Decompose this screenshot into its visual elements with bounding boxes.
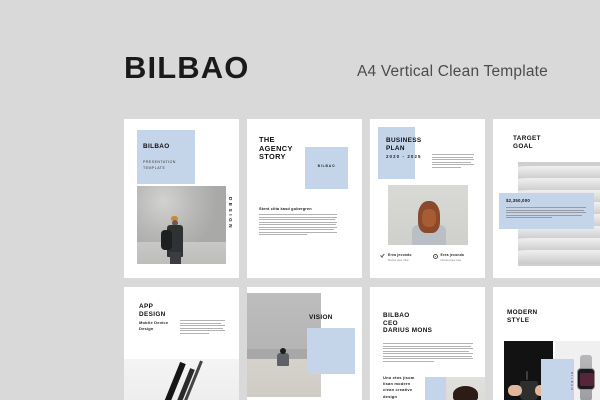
- smartwatch-photo: [577, 355, 595, 400]
- check-icon: [380, 254, 385, 259]
- slide-subtitle: PRESENTATION TEMPLATE: [143, 160, 176, 171]
- slide-card-business-plan[interactable]: BUSINESS PLAN 2020 - 2025 Erea jecondo N…: [370, 119, 485, 278]
- photo-legs: [170, 252, 181, 264]
- photo-body: [277, 353, 289, 366]
- target-icon: [433, 254, 438, 259]
- watch-screen: [580, 373, 594, 386]
- slide-title: TARGET GOAL: [513, 135, 541, 150]
- slide-card-vision[interactable]: VISION: [247, 287, 362, 400]
- dark-diagonal-bars-photo: [124, 359, 239, 400]
- accent-block: BILBAO: [541, 359, 574, 400]
- slide-card-cover[interactable]: BILBAO PRESENTATION TEMPLATE DESIGN: [124, 119, 239, 278]
- vertical-label: DESIGN: [228, 197, 233, 230]
- accent-block: [307, 328, 355, 374]
- target-amount: $2,350,000: [506, 198, 530, 203]
- photo-steam: [526, 371, 528, 380]
- list-item: Erea jecondo Nomis pies mite: [380, 253, 424, 262]
- list-item-subtitle: Nomis pies mite: [388, 258, 412, 262]
- slide-card-modern-style[interactable]: MODERN STYLE BILBAO: [493, 287, 600, 400]
- slide-card-app-design[interactable]: APP DESIGN Mobile Device Design: [124, 287, 239, 400]
- feature-list: Erea jecondo Nomis pies mite Erea jecond…: [380, 253, 476, 262]
- slide-date-range: 2020 - 2025: [386, 154, 422, 159]
- presentation-template-showcase: BILBAO A4 Vertical Clean Template BILBAO…: [0, 0, 600, 400]
- slide-title: MODERN STYLE: [507, 309, 538, 324]
- photo-head: [280, 348, 286, 354]
- slide-title: BILBAO: [143, 143, 170, 151]
- slide-lead: Stent clita kasd gubergren: [259, 206, 312, 211]
- slide-body-text: [259, 214, 337, 235]
- ceo-portrait-photo: [446, 377, 485, 400]
- slide-title: APP DESIGN: [139, 303, 166, 318]
- slide-card-agency-story[interactable]: THE AGENCY STORY BILBAO Stent clita kasd…: [247, 119, 362, 278]
- slide-body-text: [506, 207, 586, 218]
- page-subtitle: A4 Vertical Clean Template: [357, 63, 548, 81]
- photo-hair: [453, 386, 478, 400]
- list-item-title: Erea jecondo: [441, 253, 465, 257]
- accent-block: [378, 127, 415, 179]
- list-item-title: Erea jecondo: [388, 253, 412, 257]
- photo-hand-left: [508, 385, 522, 396]
- slide-card-target-goal[interactable]: TARGET GOAL $2,350,000: [493, 119, 600, 278]
- woman-portrait-photo: [388, 185, 468, 245]
- watch-face: [577, 368, 595, 390]
- accent-block: [137, 130, 195, 184]
- slide-title: VISION: [309, 314, 333, 322]
- slide-title: THE AGENCY STORY: [259, 136, 293, 162]
- man-with-backpack-photo: [137, 186, 226, 264]
- accent-block-label: BILBAO: [305, 164, 348, 168]
- slide-body-text: [180, 320, 225, 334]
- accent-block: BILBAO: [305, 147, 348, 189]
- slide-title: BILBAO CEO DARIUS MONS: [383, 312, 432, 335]
- photo-backpack: [161, 230, 172, 250]
- page-header: BILBAO A4 Vertical Clean Template: [0, 52, 600, 108]
- photo-hair: [418, 201, 440, 233]
- accent-block-label: BILBAO: [541, 372, 574, 391]
- slide-lead: Uno etos jisom lisan modern clean creati…: [383, 375, 414, 400]
- slide-body-text: [432, 154, 474, 168]
- page-title: BILBAO: [124, 52, 249, 83]
- list-item: Erea jecondo Nomis pies mite: [433, 253, 477, 262]
- list-item-subtitle: Nomis pies mite: [441, 258, 465, 262]
- slide-body-text: [383, 343, 473, 362]
- slide-title: BUSINESS PLAN: [386, 137, 421, 152]
- slide-subtitle: Mobile Device Design: [139, 320, 168, 332]
- stat-callout-box: $2,350,000: [499, 193, 594, 229]
- slide-thumbnail-grid: BILBAO PRESENTATION TEMPLATE DESIGN THE …: [124, 119, 600, 400]
- slide-card-ceo[interactable]: BILBAO CEO DARIUS MONS Uno etos jisom li…: [370, 287, 485, 400]
